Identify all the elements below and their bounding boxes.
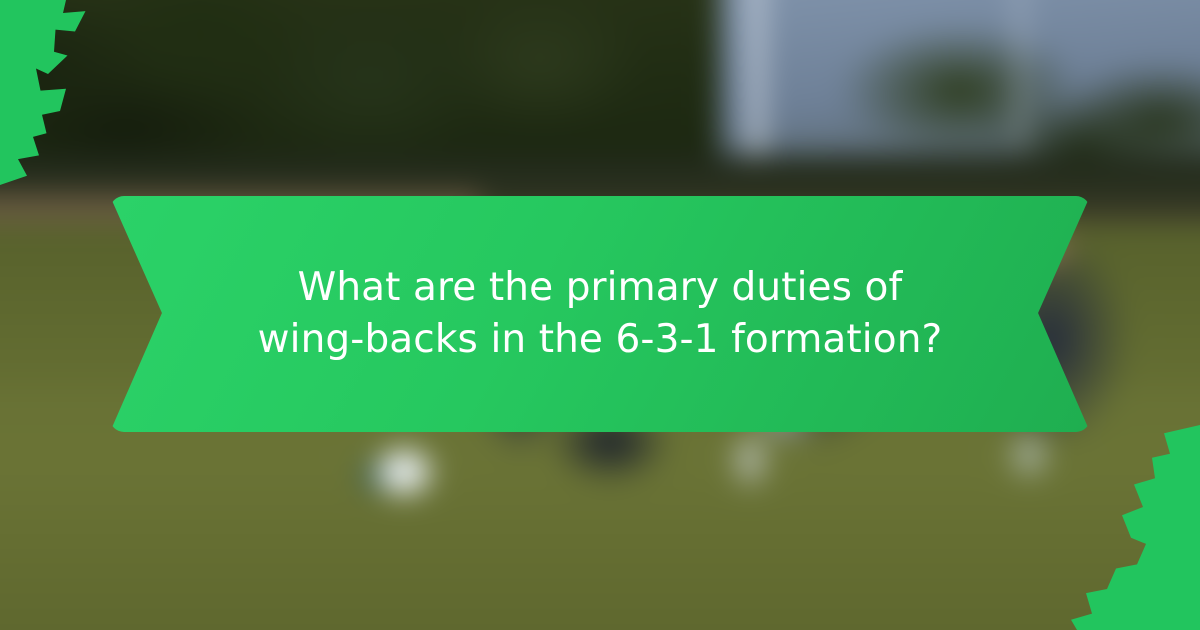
- headline-ribbon: What are the primary duties of wing-back…: [110, 196, 1090, 432]
- tree-line-left: [0, 0, 720, 165]
- headline-text: What are the primary duties of wing-back…: [220, 262, 980, 366]
- soccer-ball-icon: [360, 438, 444, 510]
- goal-post-far-icon: [1015, 0, 1025, 150]
- share-card: What are the primary duties of wing-back…: [0, 0, 1200, 630]
